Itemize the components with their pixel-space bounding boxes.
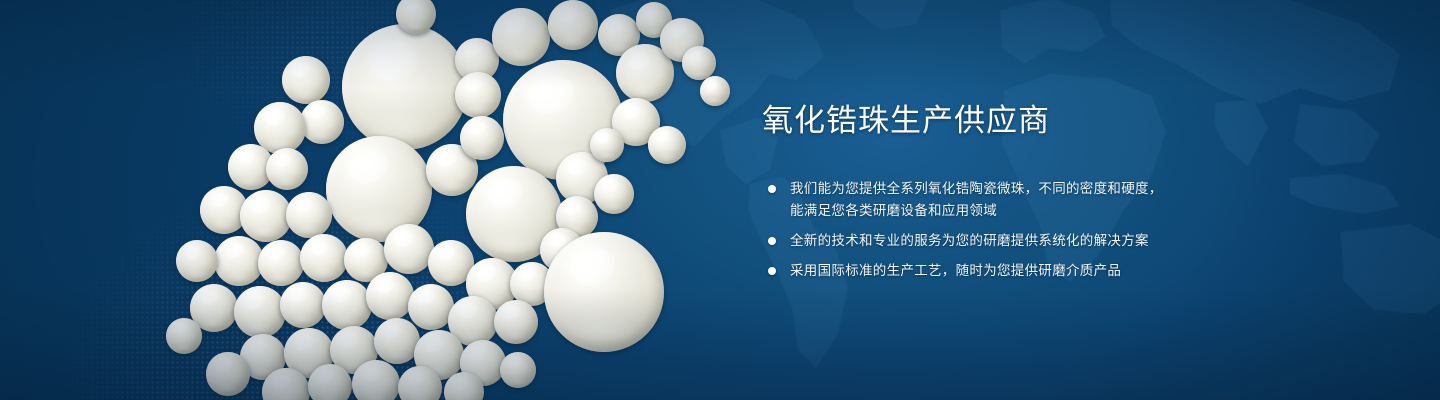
bullet-2-line-1: 全新的技术和专业的服务为您的研磨提供系统化的解决方案: [790, 233, 1149, 248]
banner-content: 氧化锆珠生产供应商 我们能为您提供全系列氧化锆陶瓷微珠，不同的密度和硬度， 能满…: [762, 104, 1382, 290]
bullet-dot-icon: [768, 185, 776, 193]
bullet-item-3: 采用国际标准的生产工艺，随时为您提供研磨介质产品: [762, 260, 1382, 282]
banner-bullet-list: 我们能为您提供全系列氧化锆陶瓷微珠，不同的密度和硬度， 能满足您各类研磨设备和应…: [762, 178, 1382, 282]
bullet-item-1: 我们能为您提供全系列氧化锆陶瓷微珠，不同的密度和硬度， 能满足您各类研磨设备和应…: [762, 178, 1382, 222]
bullet-item-2: 全新的技术和专业的服务为您的研磨提供系统化的解决方案: [762, 230, 1382, 252]
bullet-3-line-1: 采用国际标准的生产工艺，随时为您提供研磨介质产品: [790, 263, 1121, 278]
hero-banner: 氧化锆珠生产供应商 我们能为您提供全系列氧化锆陶瓷微珠，不同的密度和硬度， 能满…: [0, 0, 1440, 400]
banner-headline: 氧化锆珠生产供应商: [762, 104, 1382, 138]
bullet-1-line-2: 能满足您各类研磨设备和应用领域: [790, 200, 1382, 222]
bullet-1-line-1: 我们能为您提供全系列氧化锆陶瓷微珠，不同的密度和硬度，: [790, 181, 1163, 196]
bullet-dot-icon: [768, 267, 776, 275]
bullet-dot-icon: [768, 237, 776, 245]
